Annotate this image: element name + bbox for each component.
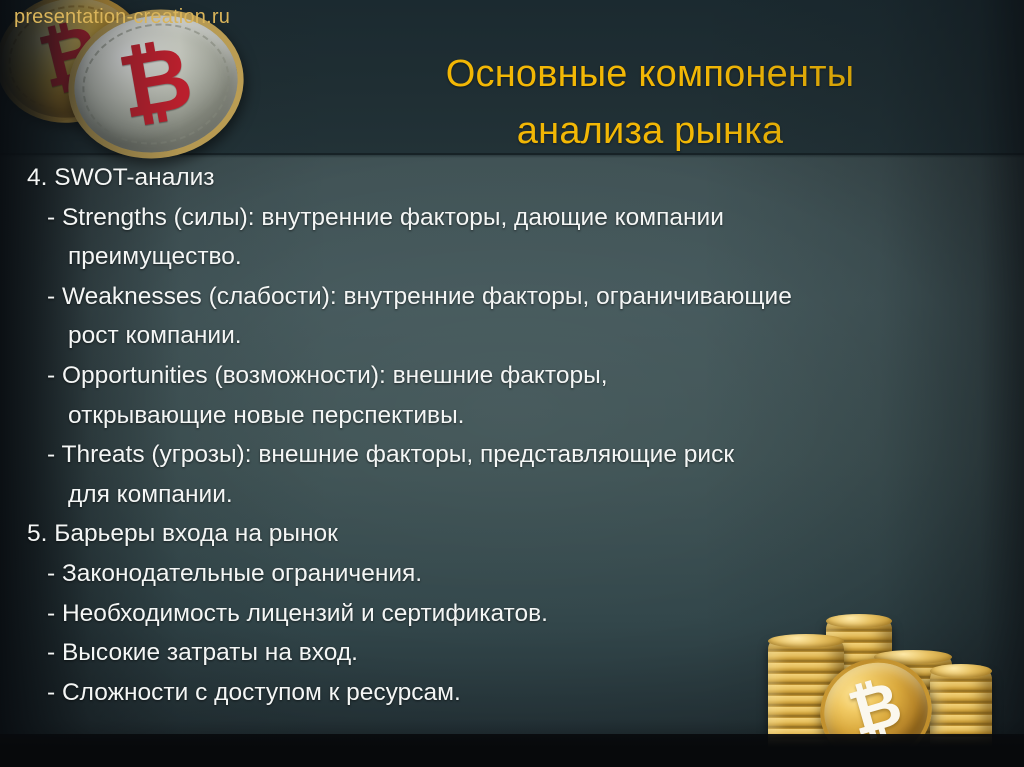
presentation-slide: ₿ ₿ Основные компоненты анализа рынка ₿ … bbox=[0, 0, 1024, 767]
watermark-text: presentation-creation.ru bbox=[14, 4, 230, 30]
content-line: преимущество. bbox=[0, 237, 1024, 277]
content-line: - Weaknesses (слабости): внутренние факт… bbox=[0, 277, 1024, 317]
content-line: для компании. bbox=[0, 475, 1024, 515]
content-line: рост компании. bbox=[0, 316, 1024, 356]
content-line: 5. Барьеры входа на рынок bbox=[0, 514, 1024, 554]
content-line: - Opportunities (возможности): внешние ф… bbox=[0, 356, 1024, 396]
content-line: - Strengths (силы): внутренние факторы, … bbox=[0, 198, 1024, 238]
content-line: - Высокие затраты на вход. bbox=[0, 633, 1024, 673]
slide-body-content: 4. SWOT-анализ - Strengths (силы): внутр… bbox=[0, 158, 1024, 712]
content-line: - Threats (угрозы): внешние факторы, пре… bbox=[0, 435, 1024, 475]
content-line: - Сложности с доступом к ресурсам. bbox=[0, 673, 1024, 713]
content-line: - Необходимость лицензий и сертификатов. bbox=[0, 594, 1024, 634]
footer-strip bbox=[0, 734, 1024, 767]
content-line: - Законодательные ограничения. bbox=[0, 554, 1024, 594]
content-line: открывающие новые перспективы. bbox=[0, 396, 1024, 436]
content-line: 4. SWOT-анализ bbox=[0, 158, 1024, 198]
